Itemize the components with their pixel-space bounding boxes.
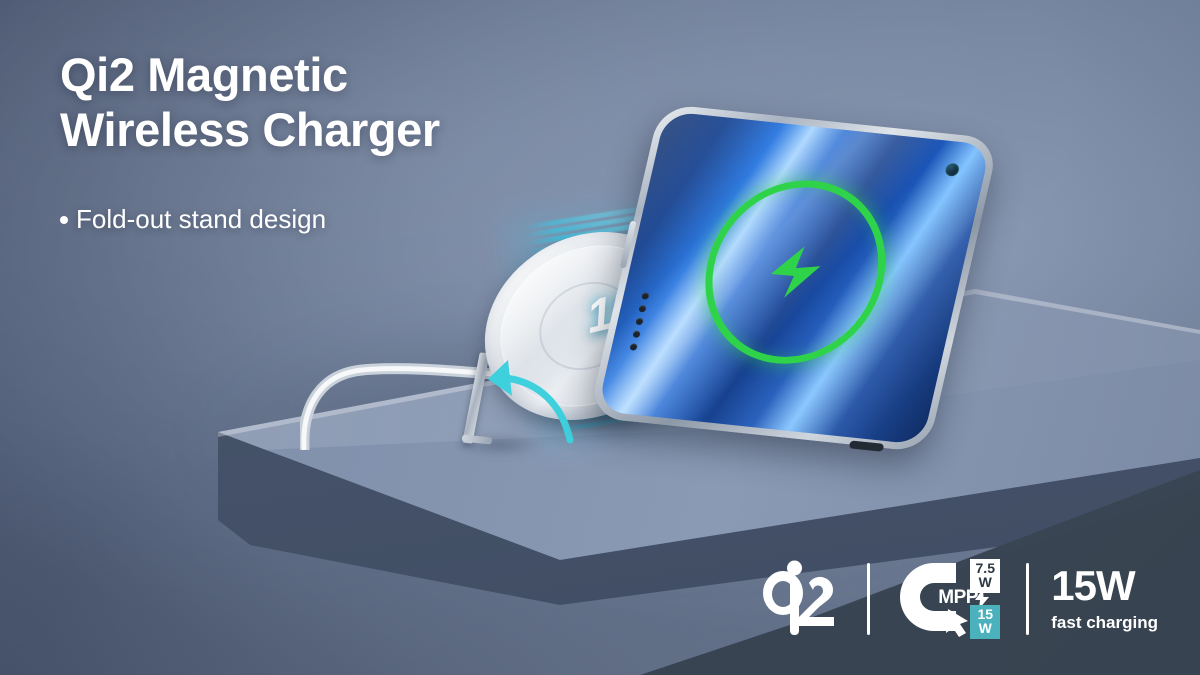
product-hero-scene: 15W Qi2 Magnetic Wireless Charger [0,0,1200,675]
bullet-dot-icon [60,216,68,224]
feature-bullet-label: Fold-out stand design [76,204,326,235]
page-title: Qi2 Magnetic Wireless Charger [60,48,580,158]
fold-out-arrow-icon [466,352,586,452]
badge-divider-2 [1026,563,1029,635]
lightning-bolt-icon [752,235,838,310]
qi2-logo-icon [749,557,845,641]
input-power-unit: W [979,576,992,590]
fast-charging-caption: fast charging [1051,613,1158,633]
fast-charging-power: 15W [1051,565,1158,607]
output-power-badge: 15 W [970,605,1000,639]
output-power-unit: W [979,622,992,636]
headline-line-1: Qi2 Magnetic [60,48,580,103]
certification-badge-row: MPP 7.5 W 15 W 15W fast charging [749,557,1158,641]
headline-line-2: Wireless Charger [60,103,580,158]
feature-bullet-item: Fold-out stand design [60,204,326,235]
input-power-badge: 7.5 W [970,559,1000,593]
smartphone [588,103,999,452]
badge-divider-1 [867,563,870,635]
phone-frame [588,103,999,452]
mpp-magnet-badge: MPP 7.5 W 15 W [892,559,1004,639]
qi2-logo [749,557,845,641]
fast-charging-badge: 15W fast charging [1051,565,1158,633]
phone-screen [597,111,991,445]
